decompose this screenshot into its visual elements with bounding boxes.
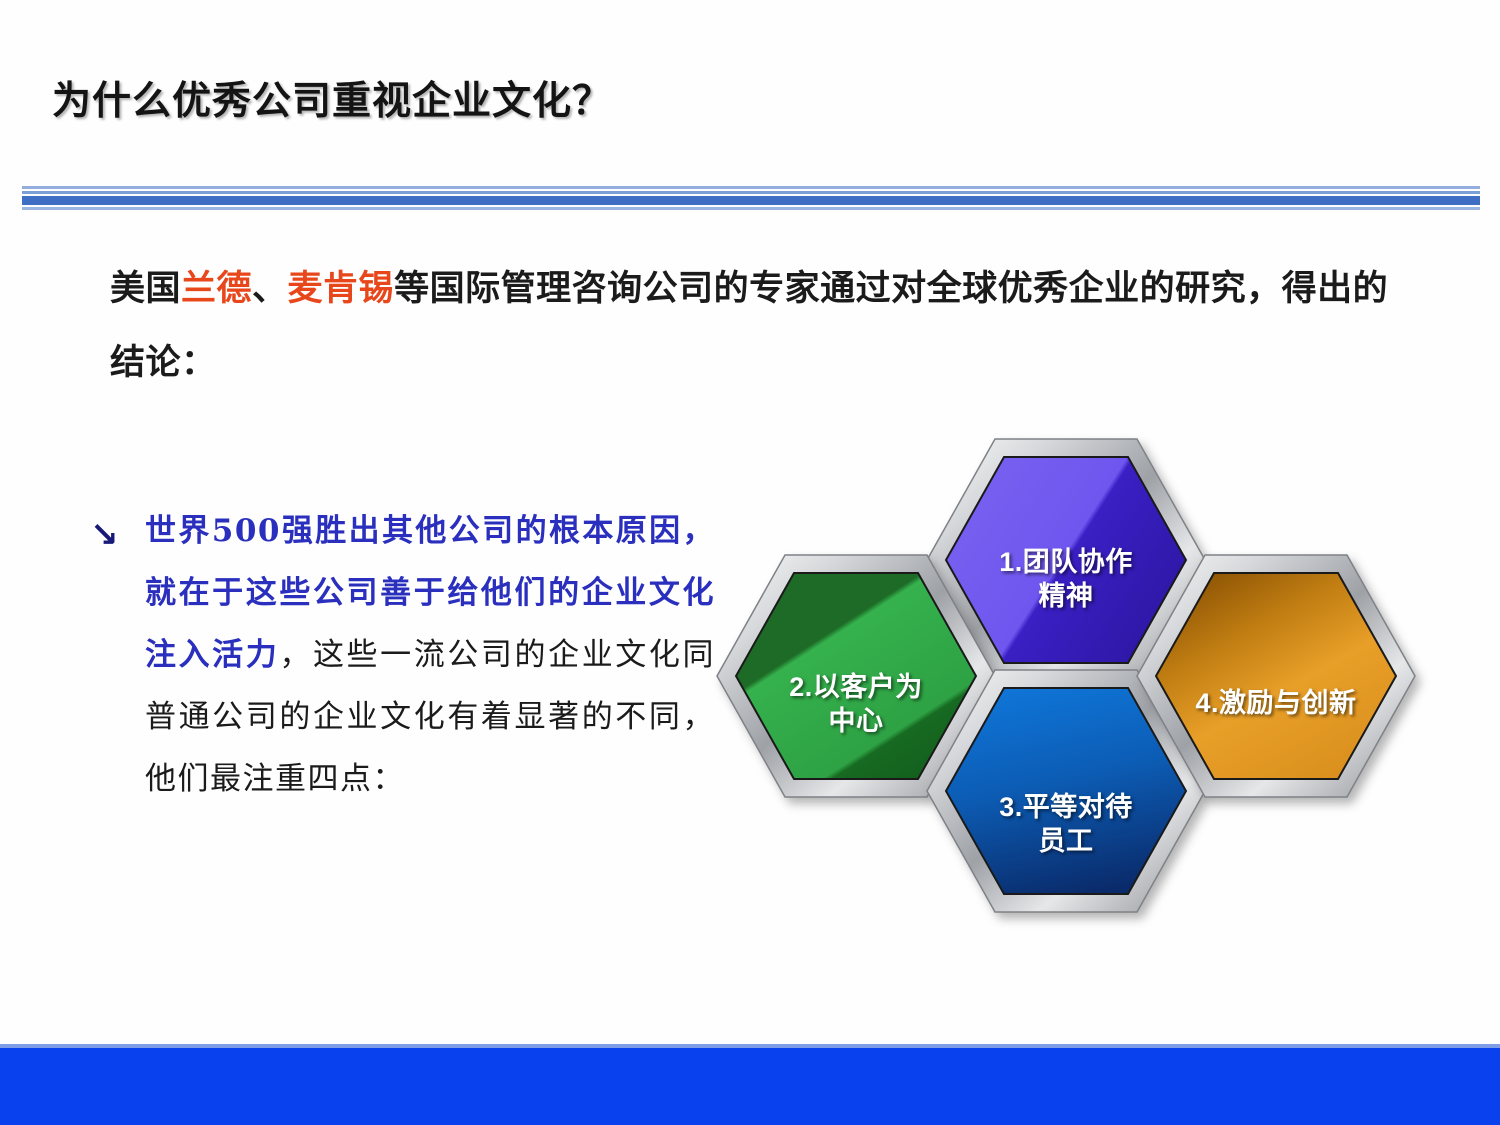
page-title: 为什么优秀公司重视企业文化？ (52, 70, 612, 126)
hexagon-shape-4 (1135, 553, 1417, 799)
arrow-down-right-icon: ↘ (90, 518, 124, 552)
lead-highlight-landeh: 兰德 (181, 269, 252, 308)
divider-line-4 (22, 207, 1480, 210)
bullet-text: 世界500强胜出其他公司的根本原因，就在于这些公司善于给他们的企业文化注入活力，… (145, 500, 715, 810)
bottom-bar (0, 1048, 1500, 1125)
divider-line-3 (22, 196, 1480, 205)
divider-line-1 (22, 186, 1480, 189)
hexagon-motivation-innovation[interactable]: 4.激励与创新 (1135, 553, 1417, 799)
slide-canvas: 为什么优秀公司重视企业文化？ 美国兰德、麦肯锡等国际管理咨询公司的专家通过对全球… (0, 0, 1500, 1125)
lead-part-2: 、 (252, 269, 288, 308)
lead-highlight-mckinsey: 麦肯锡 (288, 269, 395, 308)
divider-line-2 (22, 191, 1480, 194)
lead-paragraph: 美国兰德、麦肯锡等国际管理咨询公司的专家通过对全球优秀企业的研究，得出的结论： (110, 252, 1410, 400)
hexagon-cluster: 1.团队协作 精神 (690, 420, 1450, 940)
title-divider (22, 186, 1480, 210)
lead-part-1: 美国 (110, 269, 181, 308)
